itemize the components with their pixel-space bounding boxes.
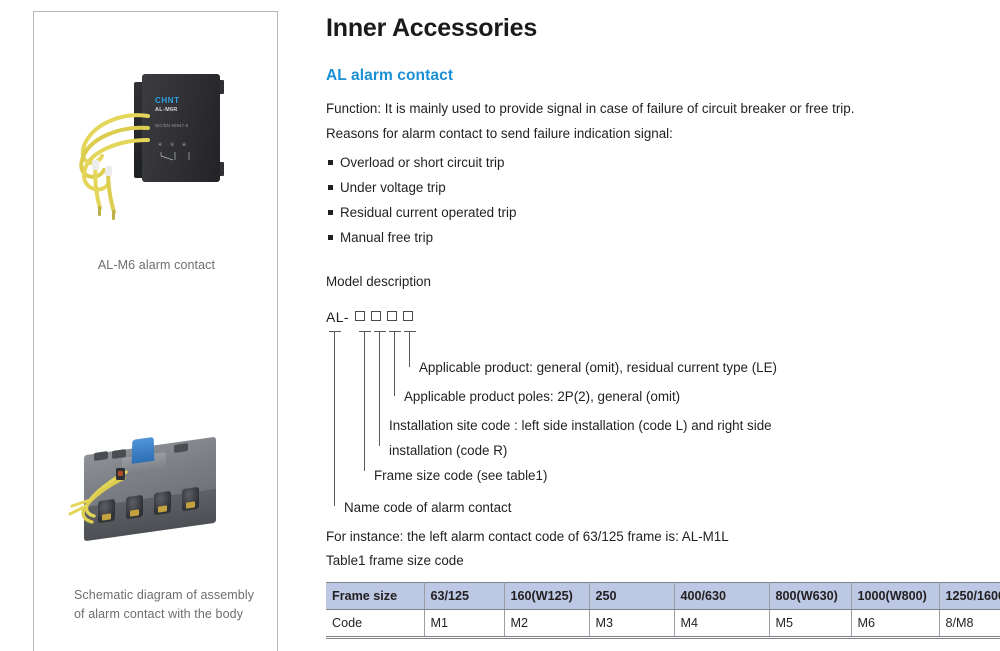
for-instance-text: For instance: the left alarm contact cod… [326, 525, 986, 549]
model-code-box-3 [387, 311, 397, 321]
table-header-cell: 1000(W800) [851, 583, 939, 610]
breaker-terminal-3 [154, 491, 171, 515]
figure-al-m6-alarm-contact: CHNT AL-M6R IEC/EN 60947-5 ④ ⑤ ⑥ [34, 62, 279, 275]
leader-line-installation-site-code [379, 331, 380, 446]
table-caption: Table1 frame size code [326, 549, 986, 573]
page-title: Inner Accessories [326, 14, 986, 43]
figure-caption-assembly: Schematic diagram of assembly of alarm c… [34, 586, 279, 624]
table-cell: 8/M8 [939, 610, 1000, 638]
model-code-box-4 [403, 311, 413, 321]
section-title: AL alarm contact [326, 67, 986, 85]
leader-text-applicable-product-poles: Applicable product poles: 2P(2), general… [404, 384, 680, 409]
reasons-list: Overload or short circuit trip Under vol… [326, 150, 986, 250]
sidebar-figure-panel: CHNT AL-M6R IEC/EN 60947-5 ④ ⑤ ⑥ [33, 11, 278, 651]
leader-text-name-code: Name code of alarm contact [344, 495, 511, 520]
leader-line-applicable-product-poles [394, 331, 395, 396]
list-item: Manual free trip [326, 225, 986, 250]
breaker-terminal-4 [182, 487, 199, 511]
table-header-cell: 160(W125) [504, 583, 589, 610]
breaker-assembly-photo [34, 422, 279, 572]
table-row: Code M1 M2 M3 M4 M5 M6 8/M8 [326, 610, 1000, 638]
figure-caption-assembly-line1: Schematic diagram of assembly [74, 586, 279, 605]
module-standard-label: IEC/EN 60947-5 [155, 123, 188, 128]
alarm-contact-photo: CHNT AL-M6R IEC/EN 60947-5 ④ ⑤ ⑥ [34, 62, 279, 232]
table-cell: M6 [851, 610, 939, 638]
reasons-intro: Reasons for alarm contact to send failur… [326, 121, 986, 146]
figure-assembly-schematic: Schematic diagram of assembly of alarm c… [34, 422, 279, 624]
table-header-cell: 63/125 [424, 583, 504, 610]
list-item: Under voltage trip [326, 175, 986, 200]
table-cell: M2 [504, 610, 589, 638]
content-column: Inner Accessories AL alarm contact Funct… [326, 0, 986, 639]
leader-line-applicable-product [409, 331, 410, 367]
function-text: Function: It is mainly used to provide s… [326, 96, 986, 121]
figure-caption-assembly-line2: of alarm contact with the body [74, 605, 279, 624]
leader-line-frame-size-code [364, 331, 365, 471]
module-model-label: AL-M6R [155, 107, 178, 113]
table-header-cell: 1250/1600 [939, 583, 1000, 610]
table-header-cell: 400/630 [674, 583, 769, 610]
breaker-wire-leads [64, 466, 154, 536]
list-item: Residual current operated trip [326, 200, 986, 225]
breaker-toggle-handle [132, 437, 155, 464]
leader-text-applicable-product: Applicable product: general (omit), resi… [419, 355, 777, 380]
figure-caption-alarm-contact: AL-M6 alarm contact [34, 256, 279, 275]
module-wiring-diagram-icon [159, 151, 195, 162]
model-code-string: AL- [326, 309, 413, 325]
module-brand-label: CHNT [155, 96, 180, 105]
frame-size-code-table: Frame size 63/125 160(W125) 250 400/630 … [326, 582, 1000, 639]
leader-line-name-code [334, 331, 335, 506]
closing-text-block: For instance: the left alarm contact cod… [326, 525, 986, 573]
model-code-diagram: AL- Applicable product: general (omit), … [326, 309, 986, 519]
leader-text-installation-site-code: Installation site code : left side insta… [389, 413, 819, 463]
model-code-box-1 [355, 311, 365, 321]
wire-leads [62, 102, 154, 222]
model-description-label: Model description [326, 269, 986, 294]
model-code-box-2 [371, 311, 381, 321]
table-header-cell: 800(W630) [769, 583, 851, 610]
table-header-row: Frame size 63/125 160(W125) 250 400/630 … [326, 583, 1000, 610]
module-terminal-labels: ④ ⑤ ⑥ [158, 142, 190, 148]
table-cell: M3 [589, 610, 674, 638]
list-item: Overload or short circuit trip [326, 150, 986, 175]
table-header-cell: 250 [589, 583, 674, 610]
table-cell: M5 [769, 610, 851, 638]
table-cell: Code [326, 610, 424, 638]
table-cell: M1 [424, 610, 504, 638]
table-cell: M4 [674, 610, 769, 638]
table-header-cell: Frame size [326, 583, 424, 610]
leader-text-frame-size-code: Frame size code (see table1) [374, 463, 547, 488]
model-code-prefix: AL- [326, 309, 349, 325]
